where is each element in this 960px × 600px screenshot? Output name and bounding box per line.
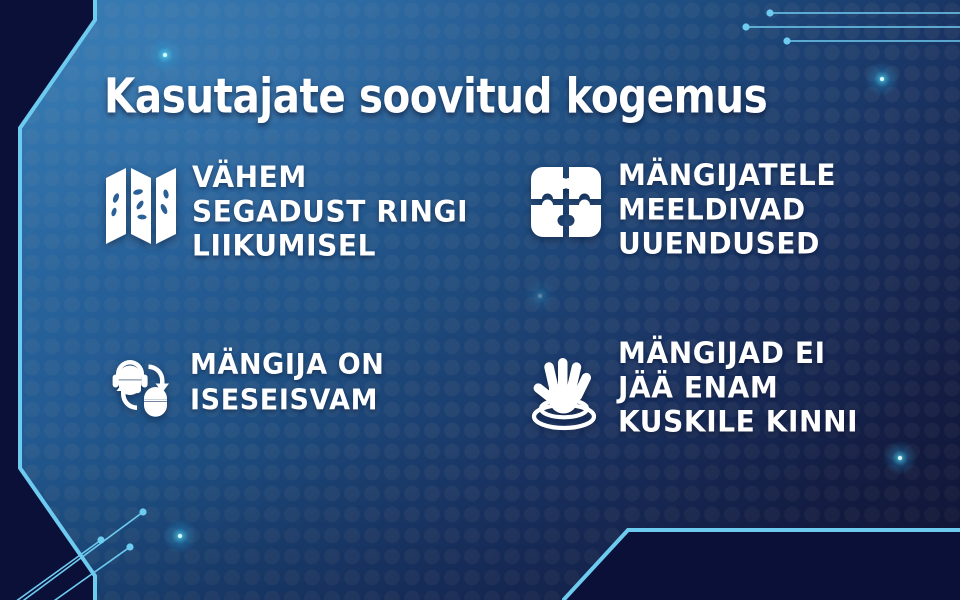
feature-item: MÄNGIJAD EI JÄÄ ENAM KUSKILE KINNI <box>522 336 858 435</box>
puzzle-pieces-icon <box>530 166 602 238</box>
folded-map-icon <box>104 164 178 248</box>
feature-label: MÄNGIJA ON ISESEISVAM <box>190 348 384 419</box>
feature-item: MÄNGIJA ON ISESEISVAM <box>108 348 384 422</box>
hand-in-water-icon <box>522 350 606 434</box>
slide-canvas: Kasutajate soovitud kogemus <box>0 0 960 600</box>
agent-handoff-icon <box>108 352 178 422</box>
slide-content: Kasutajate soovitud kogemus <box>0 0 960 600</box>
feature-item: MÄNGIJATELE MEELDIVAD UUENDUSED <box>530 158 836 257</box>
feature-label: MÄNGIJAD EI JÄÄ ENAM KUSKILE KINNI <box>618 336 858 439</box>
feature-item: VÄHEM SEGADUST RINGI LIIKUMISEL <box>104 160 468 259</box>
feature-label: VÄHEM SEGADUST RINGI LIIKUMISEL <box>192 160 468 263</box>
page-title: Kasutajate soovitud kogemus <box>104 72 767 120</box>
feature-label: MÄNGIJATELE MEELDIVAD UUENDUSED <box>618 158 836 261</box>
